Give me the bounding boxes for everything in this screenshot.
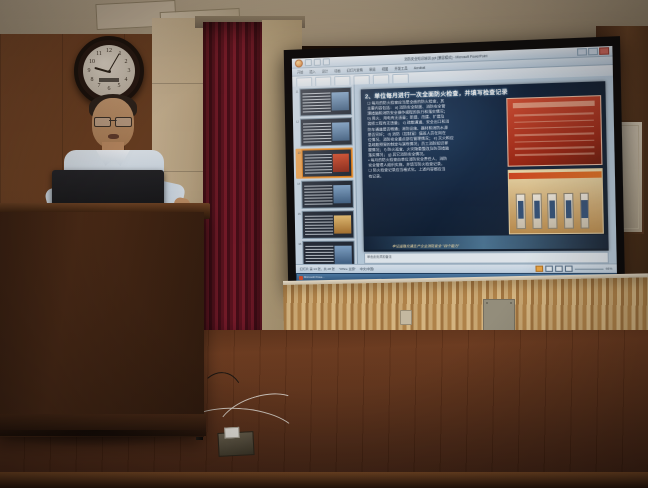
redo-icon[interactable]: [323, 58, 330, 65]
save-icon[interactable]: [305, 59, 312, 66]
clock-brand-mark: [99, 78, 119, 82]
view-controls: 66%: [535, 265, 612, 271]
clock-numeral: 11: [94, 51, 104, 57]
slide-thumbnail[interactable]: 12: [295, 117, 353, 147]
tab-review[interactable]: 审阅: [369, 67, 376, 72]
thumbnail-number: 15: [297, 211, 301, 216]
restore-button[interactable]: [588, 48, 598, 56]
clock-numeral: 6: [104, 86, 114, 92]
tab-home[interactable]: 开始: [297, 69, 303, 74]
thumbnail-preview[interactable]: [301, 180, 354, 209]
slide-thumbnail[interactable]: 11: [294, 87, 352, 117]
tab-design[interactable]: 设计: [322, 68, 328, 73]
slideshow-button[interactable]: [565, 266, 573, 272]
status-theme: "Office 主题": [339, 267, 356, 271]
thumbnail-preview[interactable]: [300, 117, 353, 147]
slide-image-statistics-table: [506, 95, 603, 166]
tab-developer[interactable]: 开发工具: [394, 65, 407, 71]
projection-screen: 消防安全知识培训.ppt [兼容模式] - Microsoft PowerPoi…: [284, 36, 625, 291]
clock-center-pin: [108, 70, 111, 73]
slide-body-text: ❑ 每月的防火检查应当是全面的防火检查，其 主要内容包括： a) 消防安全制度、…: [367, 97, 503, 179]
slide-footer-text: 牢记道路交通生产企业消防安全 "四个能力": [392, 243, 459, 248]
thumbnail-number: 16: [297, 241, 301, 246]
glasses-icon: [94, 117, 132, 125]
stage-front-face: [0, 472, 648, 488]
clock-numeral: 3: [124, 68, 134, 74]
tab-view[interactable]: 视图: [382, 66, 389, 71]
floor-power-box: [217, 431, 254, 457]
task-label: Microsoft Powe...: [304, 276, 325, 279]
slide-thumbnail[interactable]: 15: [297, 210, 355, 239]
podium: [0, 212, 204, 437]
slide-thumbnail-pane[interactable]: 11 12 13: [292, 85, 358, 265]
editor-body: 11 12 13: [292, 76, 616, 265]
clock-face: 12 1 2 3 4 5 6 7 8 9 10 11: [83, 45, 135, 97]
slide-sorter-button[interactable]: [545, 266, 553, 272]
tab-insert[interactable]: 插入: [309, 69, 315, 74]
close-button[interactable]: [599, 47, 609, 55]
podium-shadow: [0, 430, 212, 448]
status-bar: 幻灯片 第 13 张，共 28 张 "Office 主题" 中文(中国) 66%: [296, 263, 617, 273]
slide-thumbnail[interactable]: 16: [297, 241, 355, 265]
clock-numeral: 12: [104, 48, 114, 54]
office-orb-icon[interactable]: [295, 59, 303, 67]
slide-canvas-pane[interactable]: 2、单位每月进行一次全面防火检查，并填写检查记录 ❑ 每月的防火检查应当是全面的…: [355, 76, 617, 265]
wall-access-panel: [483, 299, 515, 331]
notes-pane[interactable]: 单击此处添加备注: [364, 252, 609, 264]
minimize-button[interactable]: [577, 48, 587, 56]
tab-slideshow[interactable]: 幻灯片放映: [347, 67, 363, 73]
clock-hour-hand: [94, 67, 109, 73]
zoom-slider[interactable]: [575, 268, 604, 269]
window-controls: [577, 47, 609, 56]
thumbnail-number: 13: [297, 150, 301, 155]
clock-numeral: 2: [121, 59, 131, 65]
zoom-level-label: 66%: [606, 267, 613, 271]
thumbnail-number: 12: [295, 119, 299, 124]
wall-outlet: [400, 310, 412, 325]
undo-icon[interactable]: [314, 59, 321, 66]
normal-view-button[interactable]: [535, 266, 543, 272]
slide-thumbnail[interactable]: 14: [296, 180, 354, 209]
stage-curtain: [203, 22, 265, 344]
thumbnail-preview[interactable]: [302, 241, 355, 265]
thumbnail-preview[interactable]: [302, 210, 355, 239]
powerpoint-window: 消防安全知识培训.ppt [兼容模式] - Microsoft PowerPoi…: [292, 46, 617, 283]
thumbnail-preview[interactable]: [299, 87, 352, 117]
current-slide[interactable]: 2、单位每月进行一次全面防火检查，并填写检查记录 ❑ 每月的防火检查应当是全面的…: [361, 81, 609, 251]
status-slide-indicator: 幻灯片 第 13 张，共 28 张: [300, 267, 335, 271]
clock-numeral: 7: [94, 83, 104, 89]
slide-image-building-photo: [507, 168, 604, 235]
slide-images: [506, 95, 604, 234]
tab-animations[interactable]: 动画: [334, 68, 341, 73]
status-language: 中文(中国): [360, 267, 374, 271]
reading-view-button[interactable]: [555, 266, 563, 272]
thumbnail-number: 14: [296, 181, 300, 186]
thumbnail-preview[interactable]: [302, 148, 353, 177]
thumbnail-number: 11: [294, 89, 298, 94]
clock-numeral: 9: [84, 68, 94, 74]
lecture-hall-photo: 12 1 2 3 4 5 6 7 8 9 10 11: [0, 0, 648, 488]
tab-acrobat[interactable]: Acrobat: [414, 65, 426, 70]
document-title: 消防安全知识培训.ppt [兼容模式] - Microsoft PowerPoi…: [404, 53, 487, 61]
clock-numeral: 8: [87, 77, 97, 83]
powerpoint-icon: [299, 276, 303, 280]
slide-thumbnail-selected[interactable]: 13: [296, 147, 354, 178]
clock-numeral: 5: [114, 83, 124, 89]
mouth: [108, 134, 119, 139]
projected-image: 消防安全知识培训.ppt [兼容模式] - Microsoft PowerPoi…: [292, 46, 617, 283]
clock-numeral: 10: [87, 59, 97, 65]
